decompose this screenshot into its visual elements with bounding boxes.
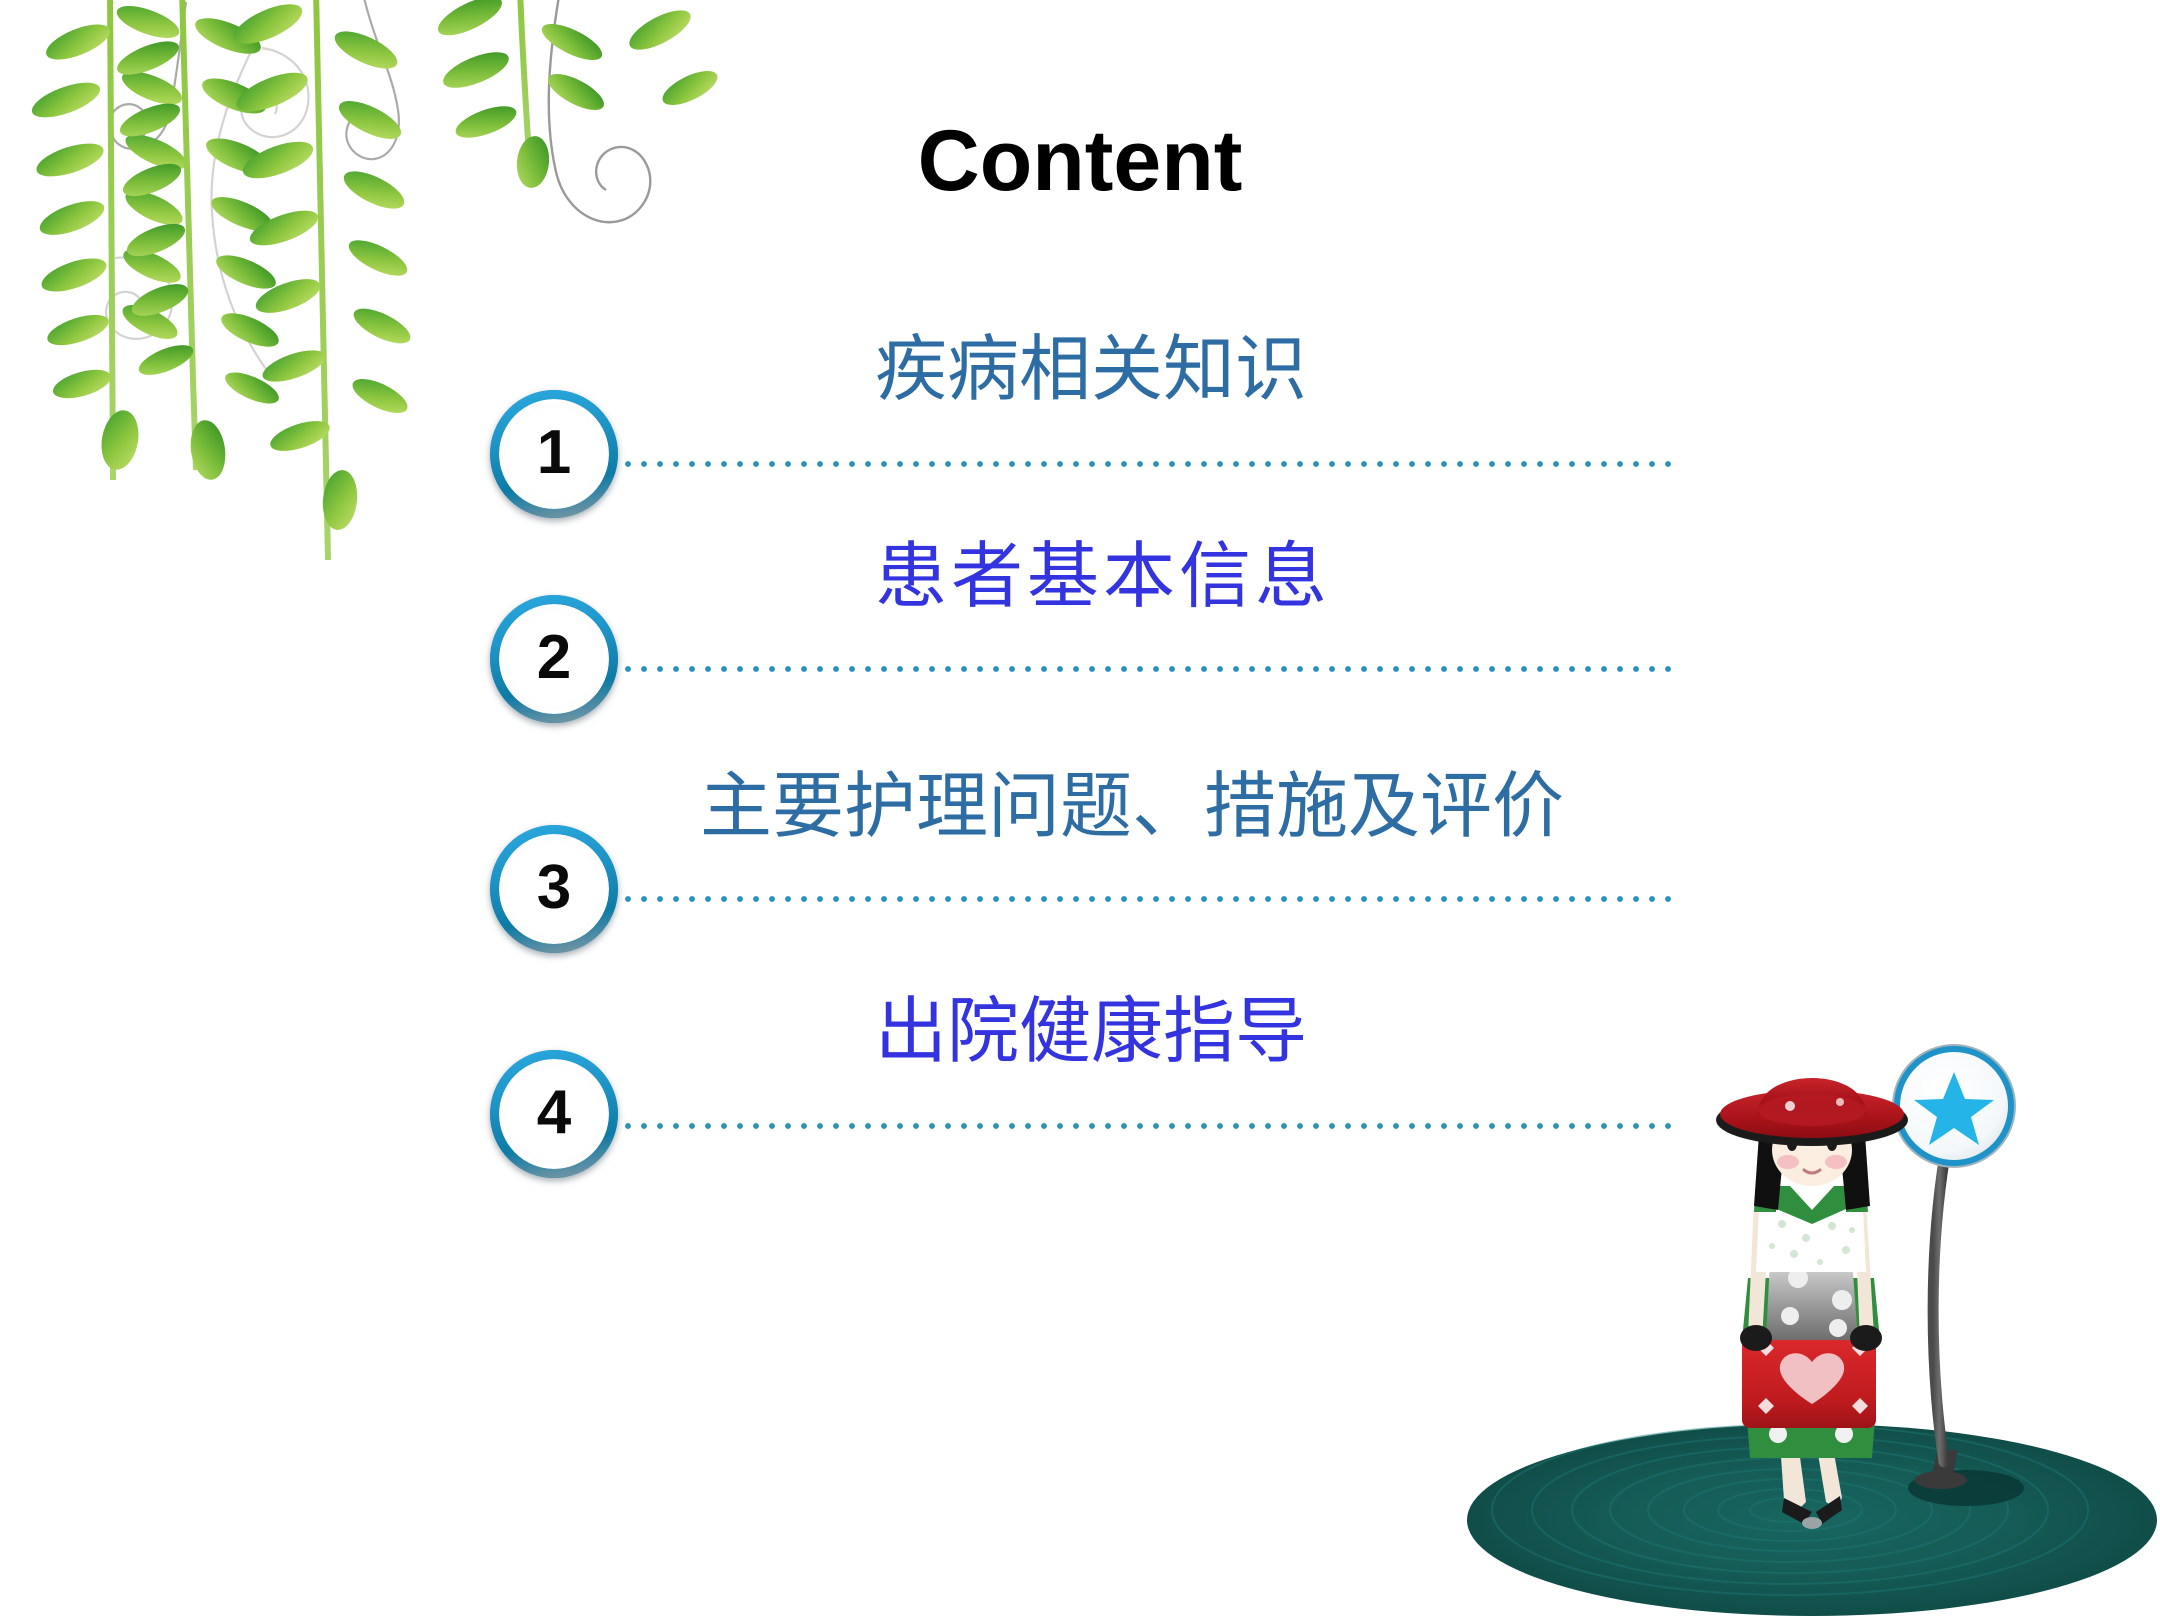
girl-figure	[1716, 1078, 1908, 1529]
item-label-3: 主要护理问题、措施及评价	[700, 770, 1564, 842]
hat	[1716, 1078, 1908, 1146]
item-number-badge-3[interactable]: 3	[490, 825, 618, 953]
page-title: Content	[0, 118, 2160, 204]
ground-ellipse	[1467, 1424, 2157, 1616]
vine-leaf-single	[624, 3, 720, 112]
item-number-1: 1	[537, 422, 571, 484]
dotted-connector-2	[620, 665, 1680, 673]
item-number-badge-1[interactable]: 1	[490, 390, 618, 518]
lamp-post	[1892, 1044, 2024, 1506]
item-number-2: 2	[537, 627, 571, 689]
star-icon	[1914, 1072, 1994, 1145]
vine-decoration	[0, 0, 720, 720]
dotted-connector-4	[620, 1122, 1680, 1130]
heart-icon	[1780, 1353, 1844, 1404]
vine-stem-1	[28, 0, 191, 480]
vine-stem-2	[113, 0, 283, 482]
girl-with-suitcase-illustration	[1460, 1010, 2160, 1620]
item-number-badge-4[interactable]: 4	[490, 1050, 618, 1178]
item-label-1: 疾病相关知识	[875, 333, 1307, 405]
vine-stem-3	[229, 0, 416, 560]
dotted-connector-1	[620, 460, 1680, 468]
item-number-3: 3	[537, 857, 571, 919]
dotted-connector-3	[620, 895, 1680, 903]
suitcase	[1742, 1315, 1876, 1428]
item-number-4: 4	[537, 1082, 571, 1144]
item-label-4: 出院健康指导	[875, 995, 1307, 1067]
slide-canvas: Content 疾病相关知识 1 患者基本信息 2 主要护理问题、措施及评价 3…	[0, 0, 2160, 1620]
item-number-badge-2[interactable]: 2	[490, 595, 618, 723]
item-label-2: 患者基本信息	[875, 540, 1331, 612]
